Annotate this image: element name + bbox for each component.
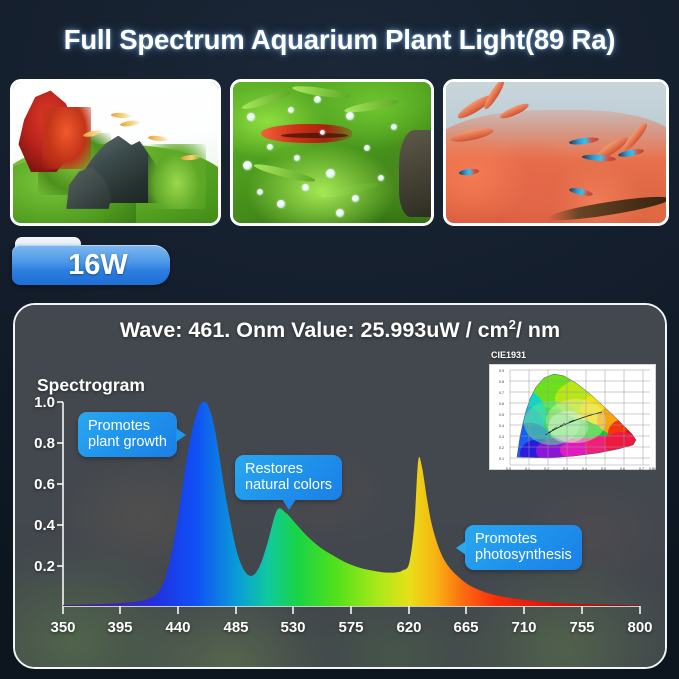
- svg-text:0.7: 0.7: [639, 467, 644, 471]
- cie1931-svg: 0.9 0.8 0.7 0.6 0.5 0.4 0.3 0.2 0.1 0.0 …: [490, 365, 657, 471]
- svg-text:0.0: 0.0: [506, 467, 511, 471]
- x-tick-755: 755: [559, 619, 605, 636]
- x-tick-485: 485: [213, 619, 259, 636]
- svg-text:0.7: 0.7: [499, 391, 504, 395]
- y-tick-1.0: 1.0: [21, 394, 55, 411]
- x-tick-395: 395: [97, 619, 143, 636]
- x-tick-800: 800: [617, 619, 663, 636]
- y-tick-0.2: 0.2: [21, 558, 55, 575]
- y-tick-0.6: 0.6: [21, 476, 55, 493]
- svg-text:x: x: [653, 467, 656, 471]
- callout-plant-growth: Promotes plant growth: [78, 412, 177, 457]
- planted-aquascape-photo: [10, 79, 221, 226]
- svg-text:0.3: 0.3: [499, 435, 504, 439]
- red-plants-photo: [443, 79, 669, 226]
- x-tick-620: 620: [386, 619, 432, 636]
- badge-body: 16W: [12, 245, 170, 285]
- svg-text:0.6: 0.6: [620, 467, 625, 471]
- cie1931-title: CIE1931: [491, 350, 526, 360]
- gallery: [10, 79, 669, 226]
- svg-text:0.1: 0.1: [499, 457, 504, 461]
- svg-text:0.6: 0.6: [499, 402, 504, 406]
- svg-text:0.1: 0.1: [525, 467, 530, 471]
- cie1931-chart: 0.9 0.8 0.7 0.6 0.5 0.4 0.3 0.2 0.1 0.0 …: [489, 364, 656, 470]
- x-tick-530: 530: [270, 619, 316, 636]
- svg-text:0.5: 0.5: [601, 467, 606, 471]
- wattage-badge: 16W: [12, 237, 172, 285]
- y-tick-0.4: 0.4: [21, 517, 55, 534]
- x-tick-665: 665: [443, 619, 489, 636]
- badge-label: 16W: [54, 249, 128, 282]
- callout-natural-colors: Restores natural colors: [235, 455, 342, 500]
- svg-text:0.2: 0.2: [499, 446, 504, 450]
- x-tick-710: 710: [501, 619, 547, 636]
- svg-text:0.4: 0.4: [582, 467, 587, 471]
- callout-photosynthesis: Promotes photosynthesis: [465, 525, 582, 570]
- svg-text:0.8: 0.8: [499, 380, 504, 384]
- spectrogram-panel: Wave: 461. Onm Value: 25.993uW / cm2/ nm…: [13, 303, 667, 669]
- svg-text:0.9: 0.9: [499, 369, 504, 373]
- cie1931-inset: CIE1931: [489, 352, 656, 470]
- x-tick-575: 575: [328, 619, 374, 636]
- y-tick-0.8: 0.8: [21, 435, 55, 452]
- svg-text:0.5: 0.5: [499, 413, 504, 417]
- svg-text:0.3: 0.3: [563, 467, 568, 471]
- svg-text:0.4: 0.4: [499, 424, 504, 428]
- x-tick-350: 350: [40, 619, 86, 636]
- page-title: Full Spectrum Aquarium Plant Light(89 Ra…: [0, 24, 679, 56]
- bubbling-plants-photo: [230, 79, 434, 226]
- x-tick-440: 440: [155, 619, 201, 636]
- svg-text:0.2: 0.2: [544, 467, 549, 471]
